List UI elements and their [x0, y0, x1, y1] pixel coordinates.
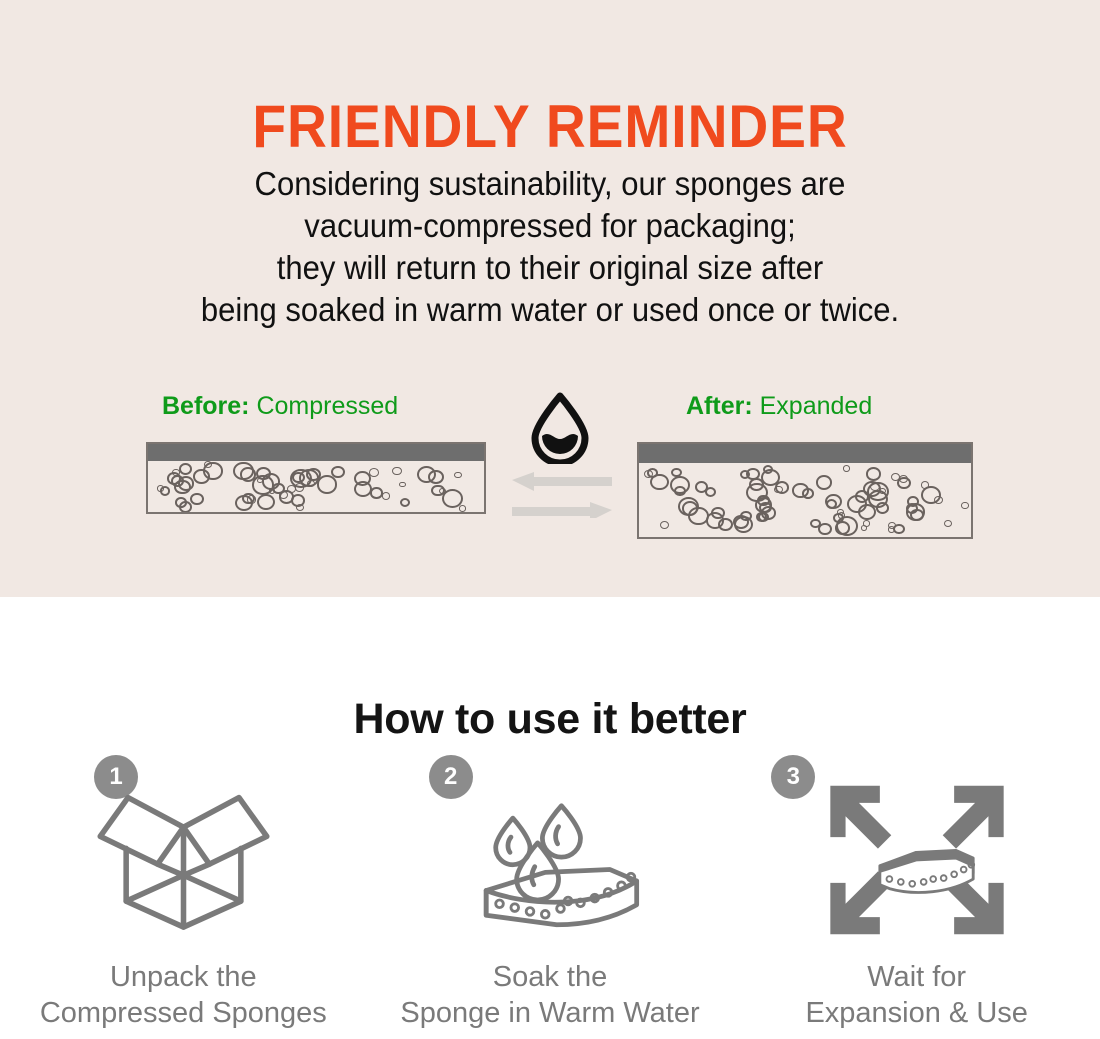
sponge-pore — [876, 502, 889, 514]
sponge-pore — [178, 476, 194, 490]
before-label-rest: Compressed — [256, 392, 398, 420]
sponge-pore — [179, 463, 192, 475]
step-item: 2 — [367, 747, 734, 1037]
sponge-pore — [660, 521, 669, 529]
sponge-pore — [861, 525, 867, 531]
step-caption: Unpack the Compressed Sponges — [0, 959, 367, 1031]
sponge-pore — [866, 467, 881, 480]
reminder-line-2: vacuum-compressed for packaging; — [33, 205, 1067, 247]
before-label: Before: Compressed — [162, 392, 398, 421]
expanding-arrows-sponge-icon — [733, 765, 1100, 955]
sponge-pore — [944, 520, 952, 527]
open-box-icon — [0, 765, 367, 955]
sponge-pore — [792, 483, 808, 498]
water-drop-icon — [525, 392, 595, 464]
sponge-pore — [431, 485, 444, 497]
reminder-line-3: they will return to their original size … — [33, 247, 1067, 289]
sponge-pore — [369, 468, 379, 477]
sponge-pore — [670, 476, 691, 495]
sponge-pore — [961, 502, 968, 508]
water-drops-on-sponge-icon — [367, 765, 734, 955]
step-caption-line: Soak the — [367, 959, 734, 995]
compressed-sponge-illustration — [146, 442, 486, 514]
before-label-strong: Before: — [162, 392, 250, 420]
section-title: How to use it better — [0, 695, 1100, 744]
sponge-pore — [816, 475, 832, 490]
expanded-sponge-illustration — [637, 442, 973, 539]
step-caption-line: Sponge in Warm Water — [367, 995, 734, 1031]
sponge-pore — [257, 494, 275, 510]
sponge-pore — [317, 475, 337, 493]
step-caption-line: Unpack the — [0, 959, 367, 995]
page-title: FRIENDLY REMINDER — [44, 92, 1056, 161]
after-label-rest: Expanded — [760, 392, 873, 420]
sponge-pore — [695, 481, 708, 493]
step-item: 1 — [0, 747, 367, 1037]
sponge-pore — [172, 469, 179, 476]
sponge-pore — [843, 465, 851, 472]
sponge-pore — [370, 487, 383, 498]
sponge-pore — [291, 494, 305, 507]
sponge-pore — [647, 468, 658, 478]
sponge-pore — [678, 497, 699, 516]
sponge-pore — [921, 481, 930, 489]
step-caption-line: Wait for — [733, 959, 1100, 995]
sponge-pore — [247, 495, 257, 504]
sponge-pore — [160, 486, 171, 496]
sponge-pore — [810, 519, 821, 529]
step-caption: Wait for Expansion & Use — [733, 959, 1100, 1031]
reminder-line-4: being soaked in warm water or used once … — [33, 289, 1067, 331]
sponge-top-band — [639, 444, 971, 463]
step-item: 3 — [733, 747, 1100, 1037]
sponge-pore — [399, 482, 405, 488]
sponge-pore — [888, 526, 896, 533]
sponge-pore — [459, 505, 466, 511]
sponge-pore — [392, 467, 402, 476]
after-label: After: Expanded — [686, 392, 872, 421]
two-way-arrows-icon — [512, 472, 612, 518]
sponge-pore — [891, 473, 900, 481]
how-to-use-section: How to use it better 1 — [0, 597, 1100, 1039]
sponge-pore — [175, 497, 187, 508]
steps-list: 1 — [0, 747, 1100, 1037]
sponge-pore — [706, 512, 724, 528]
sponge-pore — [671, 468, 681, 477]
sponge-pore — [190, 493, 204, 505]
step-caption: Soak the Sponge in Warm Water — [367, 959, 734, 1031]
step-caption-line: Compressed Sponges — [0, 995, 367, 1031]
sponge-pore — [382, 492, 390, 500]
reminder-paragraph: Considering sustainability, our sponges … — [0, 163, 1100, 331]
infographic-page: FRIENDLY REMINDER Considering sustainabi… — [0, 0, 1100, 1039]
sponge-pore — [836, 516, 858, 536]
sponge-pore — [755, 497, 772, 513]
sponge-pore — [307, 480, 315, 487]
sponge-pore — [906, 503, 918, 514]
sponge-top-band — [148, 444, 484, 461]
after-label-strong: After: — [686, 392, 753, 420]
before-after-comparison: Before: Compressed After: Expanded — [0, 392, 1100, 557]
sponge-pore — [454, 472, 461, 479]
friendly-reminder-section: FRIENDLY REMINDER Considering sustainabi… — [0, 0, 1100, 597]
step-caption-line: Expansion & Use — [733, 995, 1100, 1031]
reminder-line-1: Considering sustainability, our sponges … — [33, 163, 1067, 205]
sponge-pore — [893, 524, 905, 534]
sponge-pore — [233, 462, 253, 480]
sponge-pore — [400, 498, 410, 507]
